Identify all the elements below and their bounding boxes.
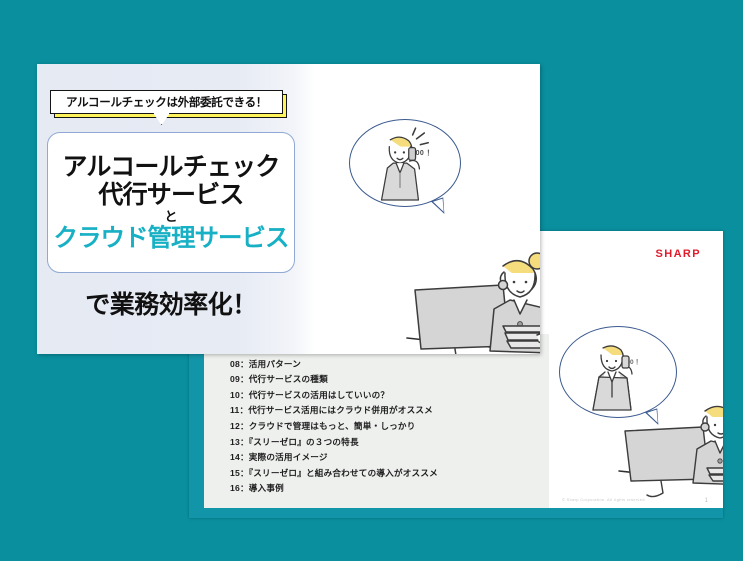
- list-item[interactable]: 13：『スリーゼロ』の３つの特長: [230, 435, 550, 451]
- list-item[interactable]: 10：代行サービスの活用はしていいの？: [230, 388, 550, 404]
- list-item[interactable]: 16：導入事例: [230, 481, 550, 497]
- caller-illustration: 0.00 ！: [349, 119, 461, 211]
- list-item[interactable]: 15：『スリーゼロ』と組み合わせての導入がオススメ: [230, 466, 550, 482]
- title-line-3: クラウド管理サービス: [54, 225, 289, 252]
- title-conjunction: と: [164, 210, 177, 225]
- title-line-1: アルコールチェック: [62, 153, 279, 181]
- operator-with-headset-icon: [619, 383, 723, 508]
- toc-accent-bar-bottom: [189, 508, 723, 518]
- callout-text: アルコールチェックは外部委託できる！: [66, 94, 267, 110]
- page-number: 1: [705, 498, 708, 504]
- list-item[interactable]: 14：実際の活用イメージ: [230, 450, 550, 466]
- title-box: アルコールチェック 代行サービス と クラウド管理サービス: [47, 132, 295, 273]
- list-item[interactable]: 12：クラウドで管理はもっと、簡単・しっかり: [230, 419, 550, 435]
- list-item[interactable]: 11：代行サービス活用にはクラウド併用がオススメ: [230, 403, 550, 419]
- list-item[interactable]: 09：代行サービスの種類: [230, 372, 550, 388]
- sharp-logo: SHARP: [655, 248, 701, 260]
- list-item[interactable]: 08：活用パターン: [230, 357, 550, 373]
- presentation-preview: SHARP 07：代行サービスでできること 08：活用パターン 09：代行サービ…: [0, 0, 743, 561]
- toc-panel: 07：代行サービスでできること 08：活用パターン 09：代行サービスの種類 1…: [204, 334, 549, 508]
- copyright-footer: © Sharp Corporation. All rights reserved…: [562, 497, 646, 502]
- toc-list: 07：代行サービスでできること 08：活用パターン 09：代行サービスの種類 1…: [230, 341, 550, 497]
- callout-banner: アルコールチェックは外部委託できる！: [50, 90, 283, 114]
- callout-body: アルコールチェックは外部委託できる！: [50, 90, 283, 114]
- title-line-2: 代行サービス: [98, 181, 243, 209]
- operator-illustration: [407, 236, 540, 354]
- operator-with-headset-icon: [407, 236, 540, 354]
- slide-title-cover[interactable]: アルコールチェックは外部委託できる！ アルコールチェック 代行サービス と クラ…: [37, 64, 540, 354]
- toc-operator-illustration: [619, 383, 723, 508]
- title-tagline: で業務効率化！: [47, 285, 295, 321]
- businessman-on-phone-icon: [369, 133, 431, 201]
